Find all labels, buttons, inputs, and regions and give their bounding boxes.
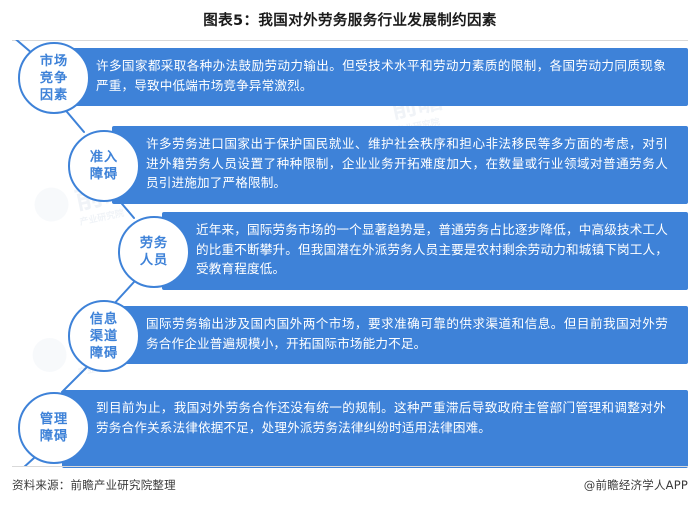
factor-badge-1-line-1: 市场 — [40, 53, 68, 70]
factor-badge-2-line-2: 障碍 — [90, 166, 118, 183]
factor-badge-3[interactable]: 劳务 人员 — [118, 216, 190, 288]
factor-badge-4-line-1: 信息 — [90, 311, 118, 328]
factor-body-2: 许多劳务进口国家出于保护国民就业、维护社会秩序和担心非法移民等多方面的考虑，对引… — [146, 134, 668, 193]
factor-badge-4-line-2: 渠道 — [90, 328, 118, 345]
factor-badge-5-line-2: 障碍 — [40, 428, 68, 445]
app-credit: @前瞻经济学人APP — [584, 477, 688, 493]
factor-badge-4[interactable]: 信息 渠道 障碍 — [68, 300, 140, 372]
page-title: 图表5：我国对外劳务服务行业发展制约因素 — [0, 9, 700, 30]
factor-body-5: 到目前为止，我国对外劳务合作还没有统一的规制。这种严重滞后导致政府主管部门管理和… — [96, 398, 666, 437]
factor-badge-2-line-1: 准入 — [90, 149, 118, 166]
factor-badge-1-line-3: 因素 — [40, 87, 68, 104]
constraint-factors-diagram: 前瞻 产业研究院 前瞻 产业研究院 前瞻 产业研究院 前瞻 产业研究院 — [0, 40, 700, 466]
factor-badge-5[interactable]: 管理 障碍 — [18, 392, 90, 464]
factor-badge-3-line-2: 人员 — [140, 252, 168, 269]
factor-badge-1-line-2: 竞争 — [40, 70, 68, 87]
connector-tail-bottom — [12, 458, 34, 466]
factor-badge-1[interactable]: 市场 竞争 因素 — [18, 42, 90, 114]
factor-badge-3-line-1: 劳务 — [140, 235, 168, 252]
bottom-divider — [12, 466, 688, 467]
factor-body-1: 许多国家都采取各种办法鼓励劳动力输出。但受技术水平和劳动力素质的限制，各国劳动力… — [96, 56, 666, 95]
source-note: 资料来源：前瞻产业研究院整理 — [12, 477, 176, 493]
connector-4-to-5 — [62, 368, 86, 392]
factor-badge-5-line-1: 管理 — [40, 411, 68, 428]
factor-body-3: 近年来，国际劳务市场的一个显著趋势是，普通劳务占比逐步降低，中高级技术工人的比重… — [196, 220, 668, 279]
factor-badge-4-line-3: 障碍 — [90, 345, 118, 362]
factor-body-4: 国际劳务输出涉及国内国外两个市场，要求准确可靠的供求渠道和信息。但目前我国对外劳… — [146, 314, 668, 353]
factor-badge-2[interactable]: 准入 障碍 — [68, 130, 140, 202]
svg-text:产业研究院: 产业研究院 — [79, 207, 126, 228]
chart-figure: 图表5：我国对外劳务服务行业发展制约因素 前瞻 产业研究院 — [0, 0, 700, 514]
